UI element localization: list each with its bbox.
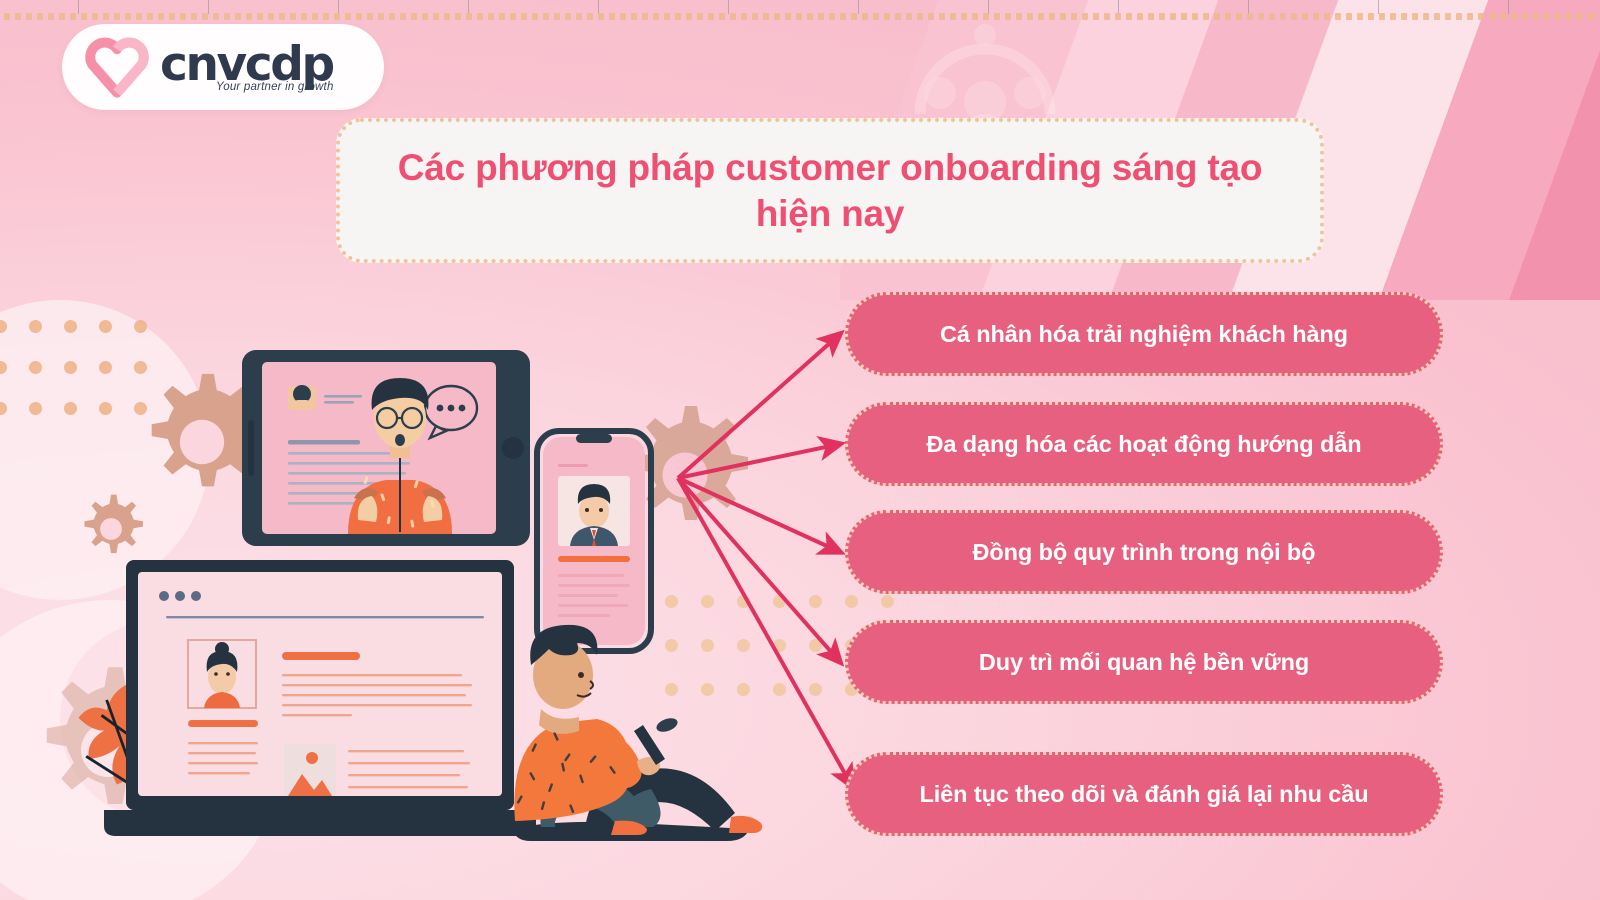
method-pill-1[interactable]: Cá nhân hóa trải nghiệm khách hàng <box>845 292 1443 376</box>
method-pill-5[interactable]: Liên tục theo dõi và đánh giá lại nhu cầ… <box>845 752 1443 836</box>
method-pill-2[interactable]: Đa dạng hóa các hoạt động hướng dẫn <box>845 402 1443 486</box>
infographic-canvas: cnvcdp Your partner in growth Các phương… <box>0 0 1600 900</box>
method-label-2: Đa dạng hóa các hoạt động hướng dẫn <box>897 431 1392 458</box>
method-label-5: Liên tục theo dõi và đánh giá lại nhu cầ… <box>890 781 1399 808</box>
arrow-2 <box>678 444 840 478</box>
method-label-4: Duy trì mối quan hệ bền vững <box>949 649 1339 676</box>
method-label-3: Đồng bộ quy trình trong nội bộ <box>943 539 1346 566</box>
arrow-5 <box>678 478 852 786</box>
method-pill-3[interactable]: Đồng bộ quy trình trong nội bộ <box>845 510 1443 594</box>
arrow-1 <box>678 334 840 478</box>
method-pill-4[interactable]: Duy trì mối quan hệ bền vững <box>845 620 1443 704</box>
arrow-4 <box>678 478 840 662</box>
method-label-1: Cá nhân hóa trải nghiệm khách hàng <box>910 321 1378 348</box>
arrow-3 <box>678 478 840 552</box>
